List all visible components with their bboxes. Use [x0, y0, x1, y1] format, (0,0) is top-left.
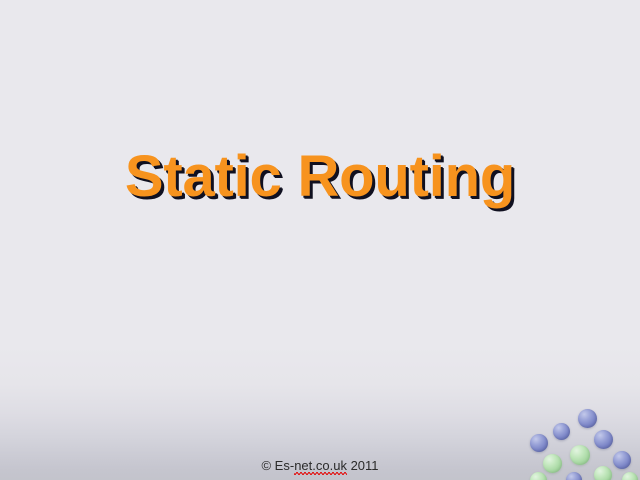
- decorative-sphere: [622, 472, 638, 480]
- decorative-sphere: [530, 472, 547, 480]
- title-block: Static Routing: [0, 148, 640, 206]
- copyright-symbol: ©: [261, 458, 271, 473]
- slide-canvas: Static Routing © Es-net.co.uk 2011: [0, 0, 640, 480]
- decorative-sphere: [578, 409, 597, 428]
- decorative-sphere: [553, 423, 570, 440]
- decorative-sphere: [594, 430, 613, 449]
- decorative-sphere: [530, 434, 548, 452]
- page-title: Static Routing: [125, 148, 515, 206]
- footer-copyright: © Es-net.co.uk 2011: [0, 459, 640, 473]
- decorative-sphere: [566, 472, 582, 480]
- brand-domain: net.co.uk: [294, 459, 347, 473]
- brand-prefix: Es-: [271, 458, 294, 473]
- copyright-year: 2011: [347, 458, 379, 473]
